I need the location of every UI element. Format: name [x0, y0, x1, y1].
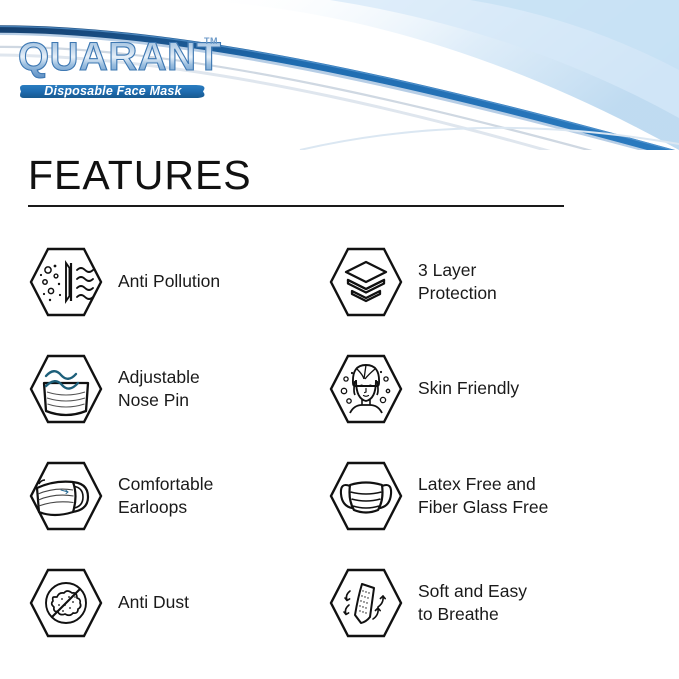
breathable-fabric-icon [328, 567, 404, 639]
page-title: FEATURES [28, 150, 564, 200]
feature-label: Anti Dust [118, 591, 189, 614]
brand-wordmark: QUARANT TM [18, 36, 238, 78]
feature-label: Soft and Easy to Breathe [418, 580, 527, 626]
brand-tagline: Disposable Face Mask [18, 82, 208, 101]
nose-pin-mask-icon [28, 353, 104, 425]
brand-tagline-ribbon: Disposable Face Mask [18, 82, 208, 101]
pollution-filter-icon [28, 246, 104, 318]
feature-item-soft-and-easy-to-breathe: Soft and Easy to Breathe [328, 549, 618, 656]
face-skin-icon [328, 353, 404, 425]
feature-label: Latex Free and Fiber Glass Free [418, 473, 548, 519]
feature-label: 3 Layer Protection [418, 259, 497, 305]
feature-label: Adjustable Nose Pin [118, 366, 200, 412]
feature-item-skin-friendly: Skin Friendly [328, 335, 618, 442]
feature-item-anti-pollution: Anti Pollution [28, 228, 318, 335]
title-block: FEATURES [28, 150, 564, 207]
mask-earloop-icon [28, 460, 104, 532]
mask-front-icon [328, 460, 404, 532]
feature-item-latex-free: Latex Free and Fiber Glass Free [328, 442, 618, 549]
product-feature-infographic: QUARANT TM Disposable Face Mask FEATURES [0, 0, 679, 679]
feature-item-adjustable-nose-pin: Adjustable Nose Pin [28, 335, 318, 442]
feature-item-3-layer-protection: 3 Layer Protection [328, 228, 618, 335]
three-layers-icon [328, 246, 404, 318]
feature-label: Anti Pollution [118, 270, 220, 293]
brand-logo: QUARANT TM Disposable Face Mask [18, 36, 238, 101]
feature-item-comfortable-earloops: Comfortable Earloops [28, 442, 318, 549]
no-dust-icon [28, 567, 104, 639]
feature-label: Comfortable Earloops [118, 473, 213, 519]
features-grid: Anti Pollution 3 Layer Protection [28, 228, 638, 656]
trademark-symbol: TM [204, 36, 218, 46]
feature-label: Skin Friendly [418, 377, 519, 400]
brand-name: QUARANT [18, 36, 221, 78]
feature-item-anti-dust: Anti Dust [28, 549, 318, 656]
title-divider [28, 205, 564, 207]
